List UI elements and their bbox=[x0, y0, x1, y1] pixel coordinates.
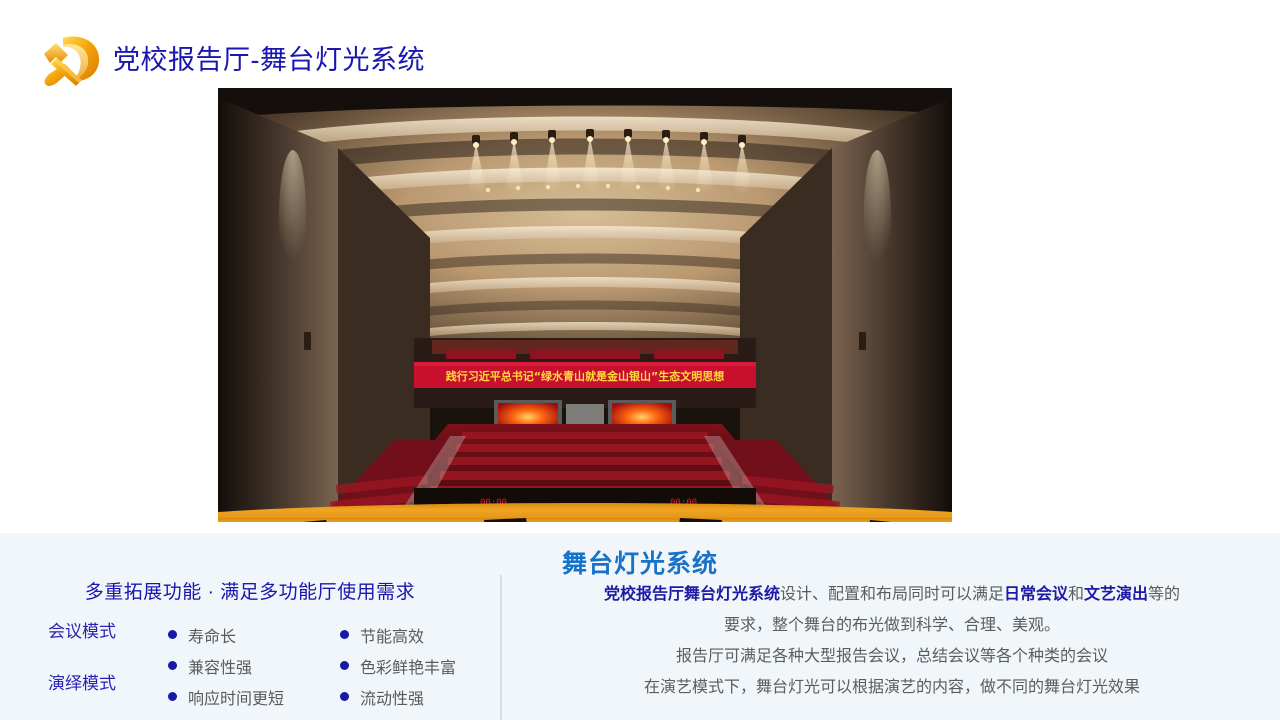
bullet-icon bbox=[168, 692, 177, 701]
feature-item: 色彩鲜艳丰富 bbox=[340, 654, 498, 678]
feature-label: 流动性强 bbox=[360, 685, 424, 709]
description-line-2: 要求，整个舞台的布光做到科学、合理、美观。 bbox=[528, 610, 1256, 641]
page-title: 党校报告厅-舞台灯光系统 bbox=[113, 44, 425, 76]
feature-item: 流动性强 bbox=[340, 685, 498, 709]
feature-label: 响应时间更短 bbox=[188, 685, 284, 709]
description-line-3: 报告厅可满足各种大型报告会议，总结会议等各个种类的会议 bbox=[528, 641, 1256, 672]
slide-page: 党校报告厅-舞台灯光系统 bbox=[0, 0, 1280, 720]
info-band: 舞台灯光系统 多重拓展功能 · 满足多功能厅使用需求 会议模式 演绎模式 寿命长… bbox=[0, 533, 1280, 720]
hero-banner-text: 践行习近平总书记“绿水青山就是金山银山”生态文明思想 bbox=[446, 369, 724, 383]
desc-bold-meeting: 日常会议 bbox=[1004, 586, 1068, 603]
desc-text-tail: 等的 bbox=[1148, 586, 1180, 603]
feature-label: 寿命长 bbox=[188, 623, 236, 647]
auditorium-photo: 践行习近平总书记“绿水青山就是金山银山”生态文明思想 bbox=[218, 88, 952, 522]
description-column: 党校报告厅舞台灯光系统设计、配置和布局同时可以满足日常会议和文艺演出等的 要求，… bbox=[504, 577, 1280, 720]
desc-bold-performance: 文艺演出 bbox=[1084, 586, 1148, 603]
page-header: 党校报告厅-舞台灯光系统 bbox=[0, 0, 1280, 100]
bullet-icon bbox=[168, 661, 177, 670]
feature-label: 色彩鲜艳丰富 bbox=[360, 654, 456, 678]
description-line-1: 党校报告厅舞台灯光系统设计、配置和布局同时可以满足日常会议和文艺演出等的 bbox=[528, 579, 1256, 610]
bullet-icon bbox=[168, 630, 177, 639]
desc-text-and: 和 bbox=[1068, 586, 1084, 603]
feature-item: 兼容性强 bbox=[168, 654, 340, 678]
mode-item-meeting[interactable]: 会议模式 bbox=[48, 621, 158, 643]
mode-list: 会议模式 演绎模式 bbox=[48, 621, 158, 720]
bullet-icon bbox=[340, 692, 349, 701]
features-headline: 多重拓展功能 · 满足多功能厅使用需求 bbox=[0, 577, 500, 604]
bullet-icon bbox=[340, 630, 349, 639]
feature-item: 响应时间更短 bbox=[168, 685, 340, 709]
feature-label: 节能高效 bbox=[360, 623, 424, 647]
column-divider bbox=[500, 575, 502, 720]
feature-item: 节能高效 bbox=[340, 623, 498, 647]
mode-item-performance[interactable]: 演绎模式 bbox=[48, 673, 158, 695]
bullet-icon bbox=[340, 661, 349, 670]
section-title: 舞台灯光系统 bbox=[0, 544, 1280, 580]
party-emblem-icon bbox=[27, 28, 111, 90]
description-line-4: 在演艺模式下，舞台灯光可以根据演艺的内容，做不同的舞台灯光效果 bbox=[528, 672, 1256, 703]
features-column: 多重拓展功能 · 满足多功能厅使用需求 会议模式 演绎模式 寿命长 节能高效 兼… bbox=[0, 577, 500, 720]
feature-grid: 寿命长 节能高效 兼容性强 色彩鲜艳丰富 响应时间更短 bbox=[168, 619, 498, 712]
desc-text-mid: 设计、配置和布局同时可以满足 bbox=[780, 586, 1004, 603]
feature-item: 寿命长 bbox=[168, 623, 340, 647]
feature-label: 兼容性强 bbox=[188, 654, 252, 678]
desc-bold-system: 党校报告厅舞台灯光系统 bbox=[604, 586, 780, 603]
